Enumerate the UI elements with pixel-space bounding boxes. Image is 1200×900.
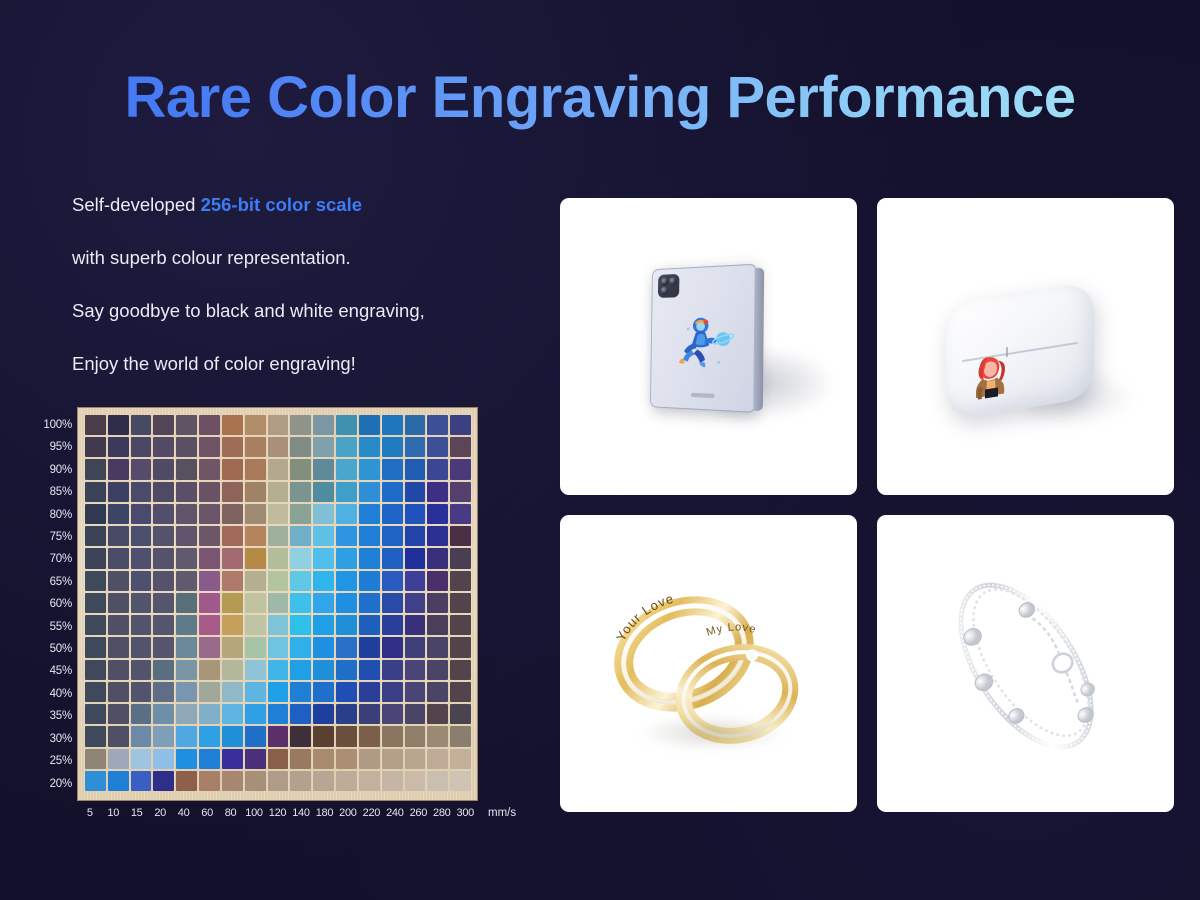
color-swatch [176,660,197,680]
color-swatch [359,459,380,479]
color-swatch [313,726,334,746]
color-swatch [268,615,289,635]
color-swatch [199,548,220,568]
color-swatch [313,437,334,457]
color-swatch [313,637,334,657]
color-swatch [427,682,448,702]
color-swatch [85,726,106,746]
color-swatch [131,771,152,791]
x-axis-tick: 120 [266,807,289,819]
color-swatch [450,504,471,524]
color-swatch [382,704,403,724]
earbuds-case-image [877,198,1174,495]
color-swatch [427,571,448,591]
color-swatch [199,459,220,479]
x-axis-tick: 5 [78,807,101,819]
tablet-brand-mark [691,392,714,397]
color-swatch [85,548,106,568]
color-swatch [131,459,152,479]
color-swatch [131,548,152,568]
color-swatch [450,593,471,613]
color-swatch [313,771,334,791]
color-swatch [153,749,174,769]
color-swatch [199,593,220,613]
product-card-earbuds-case[interactable]: Wireless earbuds case with color engrave… [877,198,1174,495]
color-swatch [268,548,289,568]
color-swatch [176,637,197,657]
chart-panel [78,408,477,800]
color-swatch [336,504,357,524]
color-swatch [199,771,220,791]
y-axis-tick: 65% [50,577,72,589]
color-swatch [199,660,220,680]
description-line-2: with superb colour representation. [72,246,542,269]
color-swatch [268,593,289,613]
color-swatch [153,615,174,635]
color-swatch [450,482,471,502]
color-swatch [359,682,380,702]
chart-y-axis: 100%95%90%85%80%75%70%65%60%55%50%45%40%… [30,420,72,790]
color-swatch [108,682,129,702]
y-axis-tick: 80% [50,510,72,522]
color-swatch [108,482,129,502]
color-swatch [85,682,106,702]
product-card-rings[interactable]: Your Love My Love Pair of gold rings wit… [560,515,857,812]
color-swatch [313,504,334,524]
color-swatch [290,660,311,680]
color-swatch [359,704,380,724]
color-swatch [108,415,129,435]
color-swatch [131,571,152,591]
color-swatch [382,526,403,546]
color-swatch [153,437,174,457]
y-axis-tick: 75% [50,532,72,544]
color-swatch [222,704,243,724]
color-swatch [245,504,266,524]
color-swatch [450,437,471,457]
rings-image: Your Love My Love [560,515,857,812]
x-axis-tick: 280 [430,807,453,819]
color-swatch [268,771,289,791]
color-swatch [382,437,403,457]
color-swatch [382,504,403,524]
color-swatch [382,459,403,479]
color-swatch [199,637,220,657]
color-swatch [336,482,357,502]
color-swatch [290,615,311,635]
color-swatch [222,437,243,457]
color-swatch [382,749,403,769]
color-swatch [313,459,334,479]
color-swatch [336,771,357,791]
color-swatch [359,749,380,769]
color-swatch [153,526,174,546]
color-swatch [153,593,174,613]
color-swatch [359,482,380,502]
color-swatch [382,682,403,702]
color-swatch [245,615,266,635]
color-swatch [176,726,197,746]
color-scale-chart: 100%95%90%85%80%75%70%65%60%55%50%45%40%… [30,405,530,835]
color-swatch [427,593,448,613]
color-swatch [222,526,243,546]
y-axis-tick: 85% [50,487,72,499]
color-swatch [85,437,106,457]
color-swatch [131,437,152,457]
color-swatch [268,415,289,435]
color-swatch [153,682,174,702]
color-swatch [153,637,174,657]
color-swatch [313,526,334,546]
color-swatch [427,704,448,724]
color-swatch [313,660,334,680]
color-swatch [153,504,174,524]
color-swatch [245,459,266,479]
color-swatch [313,682,334,702]
color-swatch [382,771,403,791]
color-swatch [336,459,357,479]
color-swatch [290,749,311,769]
color-swatch [108,771,129,791]
y-axis-tick: 40% [50,689,72,701]
color-swatch [450,571,471,591]
color-swatch [405,660,426,680]
color-swatch [176,771,197,791]
color-swatch [153,548,174,568]
color-swatch [427,459,448,479]
color-swatch [268,459,289,479]
color-swatch [427,726,448,746]
color-swatch [290,482,311,502]
color-swatch [268,437,289,457]
tablet-image [560,198,857,495]
color-swatch [268,504,289,524]
y-axis-tick: 90% [50,465,72,477]
color-swatch [108,704,129,724]
product-card-grid: Tablet with color engraved astronaut art… [560,198,1174,812]
color-swatch [313,615,334,635]
color-swatch [450,726,471,746]
color-swatch [382,660,403,680]
color-swatch [268,637,289,657]
color-swatch [199,704,220,724]
color-swatch [382,548,403,568]
color-swatch [85,615,106,635]
color-swatch [176,459,197,479]
color-swatch [153,415,174,435]
color-swatch [131,526,152,546]
color-swatch [199,415,220,435]
color-swatch [85,749,106,769]
color-swatch [176,504,197,524]
color-swatch [313,548,334,568]
color-swatch [359,660,380,680]
color-swatch [405,415,426,435]
color-swatch [359,437,380,457]
y-axis-tick: 70% [50,554,72,566]
product-card-bracelet[interactable]: Silver bracelet with engraved charms [877,515,1174,812]
color-swatch [199,437,220,457]
x-axis-tick: 240 [383,807,406,819]
color-swatch [450,637,471,657]
color-swatch [222,459,243,479]
product-card-tablet[interactable]: Tablet with color engraved astronaut art… [560,198,857,495]
color-swatch [405,682,426,702]
color-swatch [336,637,357,657]
color-swatch [176,593,197,613]
color-swatch [382,726,403,746]
color-swatch [405,482,426,502]
color-swatch [336,682,357,702]
color-swatch [450,548,471,568]
color-swatch [245,548,266,568]
y-axis-tick: 60% [50,599,72,611]
color-swatch [222,415,243,435]
color-swatch [199,749,220,769]
color-swatch [222,660,243,680]
color-swatch [131,637,152,657]
description-block: Self-developed 256-bit color scale with … [72,193,542,376]
color-swatch [176,548,197,568]
color-swatch [290,726,311,746]
x-axis-tick: 140 [289,807,312,819]
color-swatch [199,615,220,635]
color-swatch [85,415,106,435]
color-swatch [290,637,311,657]
color-swatch [108,437,129,457]
color-swatch [427,615,448,635]
color-swatch [85,482,106,502]
color-swatch [108,660,129,680]
color-swatch [153,660,174,680]
color-swatch [108,459,129,479]
chart-x-axis: 5101520406080100120140180200220240260280… [78,807,477,819]
color-swatch [85,593,106,613]
y-axis-tick: 50% [50,644,72,656]
color-swatch [290,771,311,791]
color-swatch [199,571,220,591]
y-axis-tick: 25% [50,756,72,768]
color-swatch [85,504,106,524]
color-swatch [336,704,357,724]
color-swatch [427,771,448,791]
color-swatch [176,682,197,702]
color-swatch [450,526,471,546]
color-swatch [382,415,403,435]
color-swatch [176,704,197,724]
x-axis-tick: 180 [313,807,336,819]
color-swatch [313,415,334,435]
color-swatch [313,749,334,769]
color-swatch [153,482,174,502]
x-axis-tick: 10 [101,807,124,819]
color-swatch-grid [85,415,471,791]
color-swatch [245,682,266,702]
color-swatch [131,704,152,724]
color-swatch [313,593,334,613]
color-swatch [336,526,357,546]
color-swatch [245,593,266,613]
color-swatch [222,637,243,657]
color-swatch [359,637,380,657]
color-swatch [290,682,311,702]
color-swatch [108,726,129,746]
color-swatch [427,660,448,680]
color-swatch [405,437,426,457]
color-swatch [290,704,311,724]
earbuds-case-body [946,281,1094,420]
color-swatch [382,615,403,635]
color-swatch [405,637,426,657]
y-axis-tick: 35% [50,711,72,723]
color-swatch [359,726,380,746]
color-swatch [450,415,471,435]
tablet-device [649,263,756,412]
y-axis-tick: 95% [50,442,72,454]
description-highlight: 256-bit color scale [201,194,362,215]
color-swatch [382,637,403,657]
color-swatch [450,704,471,724]
color-swatch [382,571,403,591]
rings-shadow [637,716,787,750]
color-swatch [222,504,243,524]
color-swatch [245,571,266,591]
color-swatch [450,660,471,680]
color-swatch [290,571,311,591]
color-swatch [290,593,311,613]
camera-module-icon [657,273,679,297]
color-swatch [108,526,129,546]
color-swatch [199,682,220,702]
color-swatch [290,526,311,546]
color-swatch [108,571,129,591]
x-axis-tick: 220 [360,807,383,819]
color-swatch [336,615,357,635]
color-swatch [268,682,289,702]
x-axis-tick: 300 [454,807,477,819]
color-swatch [245,660,266,680]
color-swatch [336,415,357,435]
color-swatch [245,637,266,657]
color-swatch [131,749,152,769]
color-swatch [290,415,311,435]
color-swatch [336,660,357,680]
color-swatch [405,704,426,724]
astronaut-artwork [674,315,735,375]
color-swatch [427,637,448,657]
color-swatch [359,571,380,591]
color-swatch [131,415,152,435]
x-axis-tick: 60 [195,807,218,819]
color-swatch [108,615,129,635]
description-line-4: Enjoy the world of color engraving! [72,352,542,375]
x-axis-tick: 20 [148,807,171,819]
color-swatch [176,415,197,435]
color-swatch [427,526,448,546]
color-swatch [222,482,243,502]
color-swatch [176,615,197,635]
color-swatch [131,726,152,746]
color-swatch [85,771,106,791]
color-swatch [268,660,289,680]
color-swatch [222,571,243,591]
color-swatch [268,526,289,546]
color-swatch [336,726,357,746]
color-swatch [427,504,448,524]
portrait-artwork [976,353,1006,400]
x-axis-tick: 200 [336,807,359,819]
color-swatch [359,771,380,791]
color-swatch [222,593,243,613]
color-swatch [176,526,197,546]
color-swatch [427,437,448,457]
color-swatch [199,526,220,546]
color-swatch [405,615,426,635]
color-swatch [222,771,243,791]
color-swatch [245,704,266,724]
description-line-1-prefix: Self-developed [72,194,201,215]
color-swatch [222,749,243,769]
color-swatch [222,615,243,635]
color-swatch [108,593,129,613]
x-axis-tick: 100 [242,807,265,819]
color-swatch [245,437,266,457]
color-swatch [222,548,243,568]
color-swatch [245,482,266,502]
y-axis-tick: 30% [50,734,72,746]
color-swatch [427,548,448,568]
color-swatch [131,482,152,502]
color-swatch [405,593,426,613]
chart-x-unit-label: mm/s [488,807,516,819]
color-swatch [108,749,129,769]
color-swatch [359,615,380,635]
color-swatch [290,459,311,479]
color-swatch [85,571,106,591]
color-swatch [405,459,426,479]
color-swatch [176,437,197,457]
color-swatch [427,749,448,769]
color-swatch [336,593,357,613]
color-swatch [85,704,106,724]
silver-bracelet-artwork [906,544,1146,784]
color-swatch [199,504,220,524]
color-swatch [336,749,357,769]
color-swatch [153,571,174,591]
color-swatch [108,637,129,657]
color-swatch [245,771,266,791]
color-swatch [176,571,197,591]
color-swatch [199,482,220,502]
color-swatch [427,482,448,502]
color-swatch [176,482,197,502]
color-swatch [85,637,106,657]
y-axis-tick: 45% [50,666,72,678]
x-axis-tick: 40 [172,807,195,819]
color-swatch [313,482,334,502]
color-swatch [222,726,243,746]
color-swatch [405,548,426,568]
page-title: Rare Color Engraving Performance [0,66,1200,130]
color-swatch [336,571,357,591]
x-axis-tick: 80 [219,807,242,819]
color-swatch [450,615,471,635]
color-swatch [85,660,106,680]
color-swatch [131,504,152,524]
description-line-1: Self-developed 256-bit color scale [72,193,542,216]
color-swatch [153,771,174,791]
color-swatch [290,548,311,568]
